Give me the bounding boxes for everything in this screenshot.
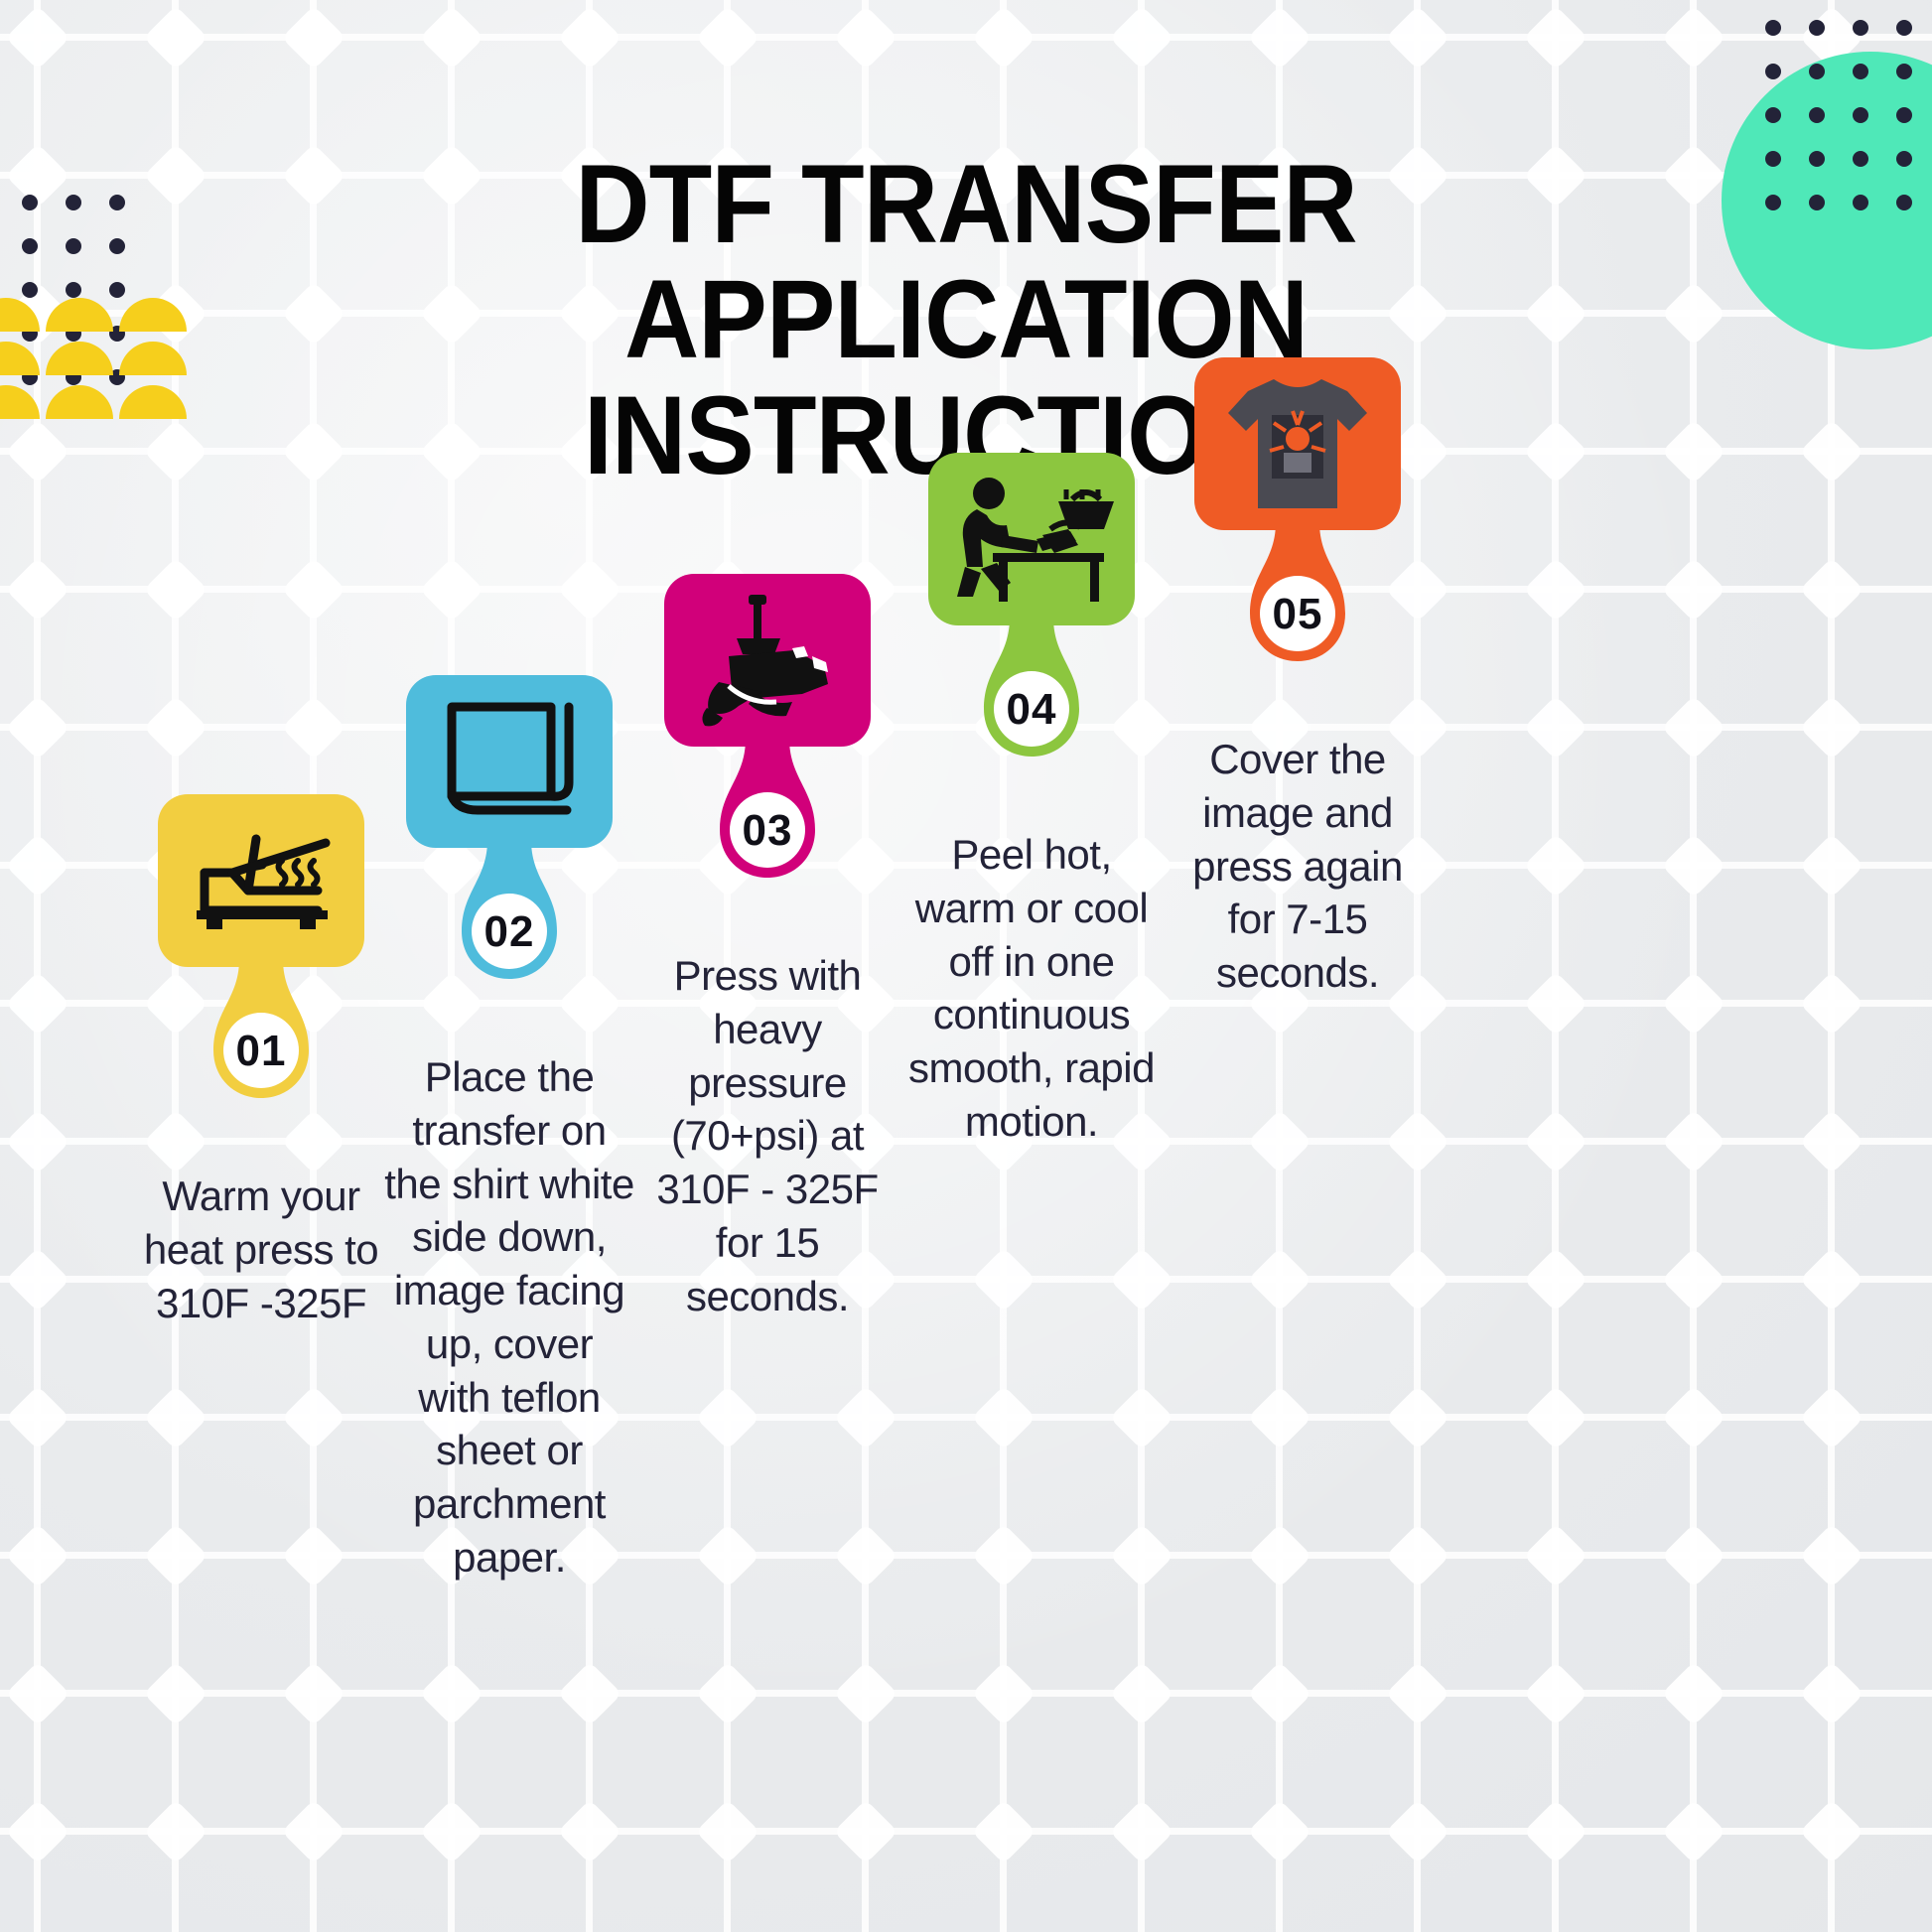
decorative-dot xyxy=(1839,50,1882,93)
step-01: 01Warm your heat press to 310F -325F xyxy=(131,794,391,1329)
step-03: 03Press with heavy pressure (70+psi) at … xyxy=(637,574,897,1322)
step-card-04[interactable] xyxy=(928,453,1135,625)
decorative-dot xyxy=(1882,50,1926,93)
decorative-dot xyxy=(1795,6,1839,50)
step-card-05[interactable] xyxy=(1194,357,1401,530)
steps-container: 01Warm your heat press to 310F -325F 02P… xyxy=(95,357,1876,1932)
step-caption-01: Warm your heat press to 310F -325F xyxy=(136,1170,386,1329)
step-number-01: 01 xyxy=(202,1027,321,1076)
transfer-sheet-icon xyxy=(440,697,579,826)
step-card-01[interactable] xyxy=(158,794,364,967)
tshirt-print-icon xyxy=(1218,369,1377,518)
decorative-dot xyxy=(1751,6,1795,50)
step-card-03[interactable] xyxy=(664,574,871,747)
infographic-canvas: DTF TRANSFER APPLICATION INSTRUCTIONS 01… xyxy=(0,0,1932,1932)
decorative-dot xyxy=(1882,137,1926,181)
step-number-04: 04 xyxy=(972,685,1091,735)
step-connector-03: 03 xyxy=(708,739,827,933)
step-caption-05: Cover the image and press again for 7-15… xyxy=(1173,733,1423,1000)
step-caption-03: Press with heavy pressure (70+psi) at 31… xyxy=(642,949,893,1322)
press-pressure-icon xyxy=(693,591,842,730)
step-05: 05Cover the image and press again for 7-… xyxy=(1168,357,1428,1000)
decorative-dot xyxy=(8,181,52,224)
decorative-dot xyxy=(1882,6,1926,50)
step-number-02: 02 xyxy=(450,907,569,957)
step-04: 04Peel hot, warm or cool off in one cont… xyxy=(901,453,1162,1149)
step-card-02[interactable] xyxy=(406,675,613,848)
decorative-dot xyxy=(1882,181,1926,224)
step-connector-02: 02 xyxy=(450,840,569,1035)
heat-press-icon xyxy=(187,825,336,936)
step-connector-05: 05 xyxy=(1238,522,1357,717)
step-caption-02: Place the transfer on the shirt white si… xyxy=(384,1050,634,1585)
decorative-arc xyxy=(0,342,40,375)
decorative-dot xyxy=(1795,93,1839,137)
decorative-dot xyxy=(1751,93,1795,137)
decorative-arc xyxy=(0,298,40,332)
peel-worker-icon xyxy=(947,470,1116,609)
decorative-dot xyxy=(1839,93,1882,137)
step-connector-04: 04 xyxy=(972,618,1091,812)
step-02: 02Place the transfer on the shirt white … xyxy=(379,675,639,1585)
decorative-dot xyxy=(1882,93,1926,137)
step-connector-01: 01 xyxy=(202,959,321,1154)
decorative-dot xyxy=(8,224,52,268)
decorative-arc xyxy=(0,385,40,419)
decorative-dot xyxy=(1839,6,1882,50)
decorative-dot xyxy=(1795,50,1839,93)
step-caption-04: Peel hot, warm or cool off in one contin… xyxy=(906,828,1157,1149)
step-number-05: 05 xyxy=(1238,590,1357,639)
decorative-dot xyxy=(1751,50,1795,93)
step-number-03: 03 xyxy=(708,806,827,856)
